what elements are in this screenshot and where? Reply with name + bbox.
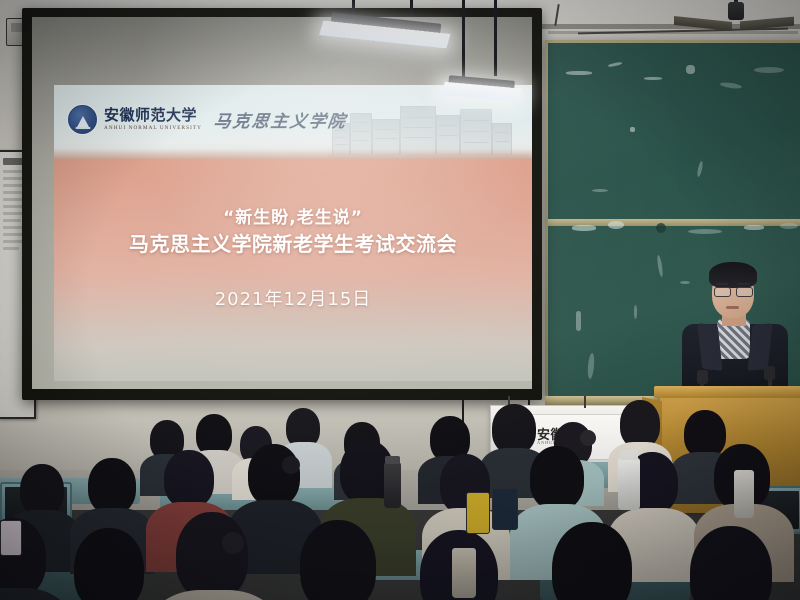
smartphone-2 (492, 488, 518, 530)
water-bottle-2 (618, 458, 640, 510)
speaker-person (676, 262, 794, 402)
smartphone-3 (0, 520, 22, 556)
bottle-cap-2 (620, 450, 638, 460)
light-rod-2b (494, 0, 497, 76)
ceiling-fan-icon (674, 2, 794, 42)
college-calligraphy: 马克思主义学院 (212, 107, 348, 132)
eyeglasses-icon (714, 287, 731, 297)
water-bottle-3 (452, 548, 476, 598)
light-rod-1b (410, 0, 413, 16)
water-bottle-4 (734, 470, 754, 518)
microphone-icon-right (764, 366, 775, 380)
light-rod-2a (462, 0, 465, 82)
university-name-cn: 安徽师范大学 (104, 108, 202, 123)
slide-date: 2021年12月15日 (54, 285, 532, 311)
microphone-icon-left (697, 370, 708, 384)
smartphone (466, 492, 490, 534)
eyeglasses-icon-right (736, 287, 753, 297)
bottle-cap (385, 456, 400, 464)
slide-title-quote: “新生盼,老生说” (54, 203, 532, 228)
university-emblem-icon (68, 105, 97, 134)
water-bottle (384, 462, 401, 508)
presentation-slide: 安徽师范大学 ANHUI NORMAL UNIVERSITY 马克思主义学院 “… (54, 85, 532, 381)
slide-logo-group: 安徽师范大学 ANHUI NORMAL UNIVERSITY 马克思主义学院 (68, 105, 347, 134)
university-name-en: ANHUI NORMAL UNIVERSITY (104, 125, 202, 131)
slide-title-main: 马克思主义学院新老学生考试交流会 (54, 228, 532, 257)
seated-audience (0, 400, 800, 600)
campus-building-illustration (328, 95, 528, 159)
lecture-hall-photo: 安徽师范大学 ANHUI NORMAL UNIVERSITY 马克思主义学院 “… (0, 0, 800, 600)
